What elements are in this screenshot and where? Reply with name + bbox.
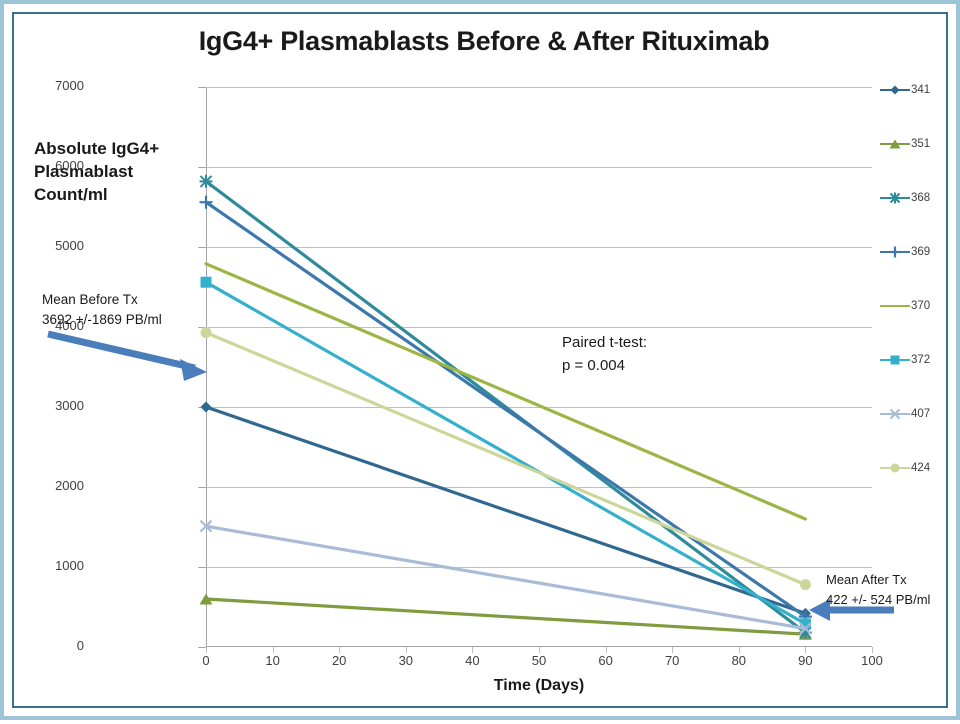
legend-swatch-none-icon bbox=[880, 299, 910, 313]
legend-label: 407 bbox=[911, 408, 930, 420]
annotation-mean-after-line-1: Mean After Tx bbox=[826, 570, 930, 590]
triangle-marker bbox=[890, 140, 901, 149]
legend-label: 341 bbox=[911, 84, 930, 96]
legend-item-351[interactable]: 351 bbox=[880, 136, 930, 152]
x-axis-tick-label: 40 bbox=[452, 653, 492, 668]
y-axis-tick bbox=[198, 487, 206, 488]
y-axis-tick-label: 0 bbox=[14, 638, 84, 653]
x-axis-title: Time (Days) bbox=[206, 677, 872, 695]
y-axis-tick-label: 6000 bbox=[14, 158, 84, 173]
plot-frame bbox=[206, 87, 872, 647]
slide-canvas: IgG4+ Plasmablasts Before & After Rituxi… bbox=[0, 0, 960, 720]
chart-title: IgG4+ Plasmablasts Before & After Rituxi… bbox=[4, 26, 960, 57]
circle-marker bbox=[891, 464, 900, 473]
gridline bbox=[206, 567, 872, 568]
y-axis-title-line-3: Count/ml bbox=[34, 184, 199, 207]
y-axis-tick bbox=[198, 407, 206, 408]
y-axis-tick-label: 7000 bbox=[14, 78, 84, 93]
legend-label: 424 bbox=[911, 462, 930, 474]
legend-swatch-circle-icon bbox=[880, 461, 910, 475]
legend-label: 351 bbox=[911, 138, 930, 150]
x-axis-tick-label: 70 bbox=[652, 653, 692, 668]
gridline bbox=[206, 87, 872, 88]
legend-label: 370 bbox=[911, 300, 930, 312]
gridline bbox=[206, 487, 872, 488]
y-axis-tick bbox=[198, 647, 206, 648]
x-axis-tick-label: 20 bbox=[319, 653, 359, 668]
x-axis-tick-label: 100 bbox=[852, 653, 892, 668]
y-axis-tick-label: 5000 bbox=[14, 238, 84, 253]
legend-label: 368 bbox=[911, 192, 930, 204]
x-marker bbox=[891, 410, 900, 419]
annotation-mean-before: Mean Before Tx 3692 +/-1869 PB/ml bbox=[42, 290, 162, 329]
legend-swatch-triangle-icon bbox=[880, 137, 910, 151]
legend-swatch-star-icon bbox=[880, 191, 910, 205]
annotation-mean-before-line-1: Mean Before Tx bbox=[42, 290, 162, 310]
legend-swatch-plus-icon bbox=[880, 245, 910, 259]
square-marker bbox=[891, 356, 900, 365]
star-marker bbox=[890, 193, 901, 204]
x-axis-tick-label: 0 bbox=[186, 653, 226, 668]
legend-label: 372 bbox=[911, 354, 930, 366]
legend-swatch-diamond-icon bbox=[880, 83, 910, 97]
legend-label: 369 bbox=[911, 246, 930, 258]
y-axis-tick bbox=[198, 87, 206, 88]
legend-swatch-x-icon bbox=[880, 407, 910, 421]
y-axis-tick bbox=[198, 167, 206, 168]
x-axis-tick-label: 60 bbox=[586, 653, 626, 668]
mean-before-arrow bbox=[48, 334, 207, 381]
gridline bbox=[206, 407, 872, 408]
y-axis-tick bbox=[198, 567, 206, 568]
y-axis-tick-label: 1000 bbox=[14, 558, 84, 573]
y-axis-tick-label: 3000 bbox=[14, 398, 84, 413]
legend-item-368[interactable]: 368 bbox=[880, 190, 930, 206]
legend-item-424[interactable]: 424 bbox=[880, 460, 930, 476]
x-axis-tick-label: 50 bbox=[519, 653, 559, 668]
legend-item-369[interactable]: 369 bbox=[880, 244, 930, 260]
legend-item-370[interactable]: 370 bbox=[880, 298, 930, 314]
x-axis-tick-label: 80 bbox=[719, 653, 759, 668]
legend-item-341[interactable]: 341 bbox=[880, 82, 930, 98]
y-axis-tick bbox=[198, 327, 206, 328]
x-axis-tick-label: 10 bbox=[253, 653, 293, 668]
legend-swatch-square-icon bbox=[880, 353, 910, 367]
plot-area: 0102030405060708090100 bbox=[206, 87, 872, 647]
legend-item-407[interactable]: 407 bbox=[880, 406, 930, 422]
annotation-mean-before-line-2: 3692 +/-1869 PB/ml bbox=[42, 310, 162, 330]
x-axis-tick-label: 30 bbox=[386, 653, 426, 668]
plus-marker bbox=[890, 247, 901, 258]
gridline bbox=[206, 167, 872, 168]
x-axis-tick-label: 90 bbox=[785, 653, 825, 668]
annotation-ttest-line-2: p = 0.004 bbox=[562, 355, 647, 378]
gridline bbox=[206, 247, 872, 248]
gridline bbox=[206, 327, 872, 328]
annotation-mean-after: Mean After Tx 422 +/- 524 PB/ml bbox=[826, 570, 930, 609]
legend-item-372[interactable]: 372 bbox=[880, 352, 930, 368]
y-axis-tick-label: 2000 bbox=[14, 478, 84, 493]
annotation-ttest-line-1: Paired t-test: bbox=[562, 332, 647, 355]
y-axis-tick bbox=[198, 247, 206, 248]
diamond-marker bbox=[891, 86, 900, 95]
annotation-mean-after-line-2: 422 +/- 524 PB/ml bbox=[826, 590, 930, 610]
annotation-ttest: Paired t-test: p = 0.004 bbox=[562, 332, 647, 377]
